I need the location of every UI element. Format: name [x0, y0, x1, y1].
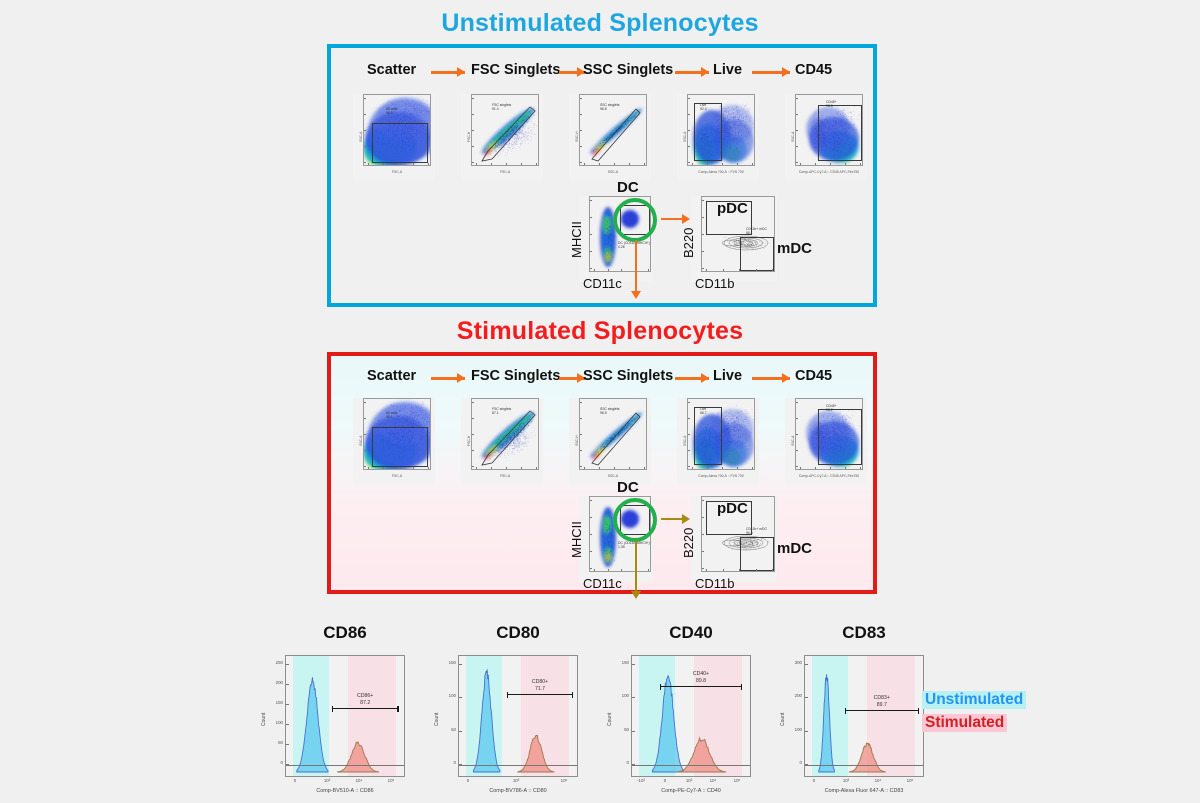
axis-tick: [364, 114, 366, 115]
axis-tick: [702, 517, 704, 518]
axis-tick: [398, 467, 399, 469]
x-axis-label: Comp-Alexa 700-A :: FVS 700: [687, 474, 755, 478]
axis-tick: [648, 269, 649, 271]
arrow-ssc-to-live: [675, 373, 709, 383]
arrow-fsc-to-ssc: [559, 373, 585, 383]
curve-unstimulated: [473, 669, 499, 772]
gate-percent: 98.5: [826, 104, 837, 108]
gate-stat: CD80+71.7: [507, 679, 573, 693]
axis-tick: [608, 569, 609, 571]
axis-tick: [580, 162, 582, 163]
arrow-shaft: [635, 240, 637, 292]
arrow-head: [631, 291, 641, 299]
dc-gate-label: DC: [617, 479, 639, 496]
axis-tick: [614, 467, 615, 469]
gate-region[interactable]: [694, 103, 722, 161]
y-tick-mark: [459, 697, 462, 698]
x-tick-label: 10³: [319, 778, 335, 783]
arrow-live-to-cd45: [752, 67, 790, 77]
y-axis-label: SSC-A: [791, 132, 795, 142]
axis-tick: [521, 467, 522, 469]
axis-tick: [702, 268, 704, 269]
axis-tick: [368, 163, 369, 165]
arrow-head: [682, 214, 690, 224]
step-live: Live: [713, 368, 742, 384]
axis-tick: [796, 114, 798, 115]
axis-tick: [739, 269, 740, 271]
axis-tick: [756, 569, 757, 571]
plot-frame: CD45+98.2: [795, 398, 863, 470]
arrow-live-to-cd45: [752, 373, 790, 383]
y-tick-label: 300: [788, 660, 802, 665]
y-tick-mark: [286, 684, 289, 685]
axis-tick: [737, 163, 738, 165]
plot-frame: Live66.7: [687, 398, 755, 470]
step-ssc-singlets: SSC Singlets: [583, 368, 673, 384]
gate-region[interactable]: [694, 407, 722, 465]
axis-tick: [584, 163, 585, 165]
histogram-curves: [286, 656, 405, 777]
axis-tick: [580, 418, 582, 419]
axis-tick: [476, 467, 477, 469]
axis-tick: [796, 146, 798, 147]
y-axis-label: Count: [607, 713, 613, 726]
axis-tick: [472, 402, 474, 403]
gate-stat-label: CD45+98.5: [826, 100, 837, 109]
histogram-frame-cd80: CD80+71.7: [458, 655, 578, 777]
arrow-shaft: [661, 518, 683, 520]
x-tick-label: 10⁴: [705, 778, 721, 783]
gate-percent: 91.4: [492, 107, 511, 111]
axis-tick: [860, 163, 861, 165]
gate-percent: 87.1: [492, 411, 511, 415]
axis-tick: [702, 200, 704, 201]
y-tick-label: 200: [788, 693, 802, 698]
axis-name-cd11c: CD11c: [583, 276, 622, 291]
y-axis-label: FSC-H: [467, 436, 471, 446]
axis-tick: [796, 162, 798, 163]
step-cd45: CD45: [795, 368, 832, 384]
gate-percent: 89.7: [845, 702, 919, 709]
plot-frame: All cells96.5: [363, 94, 431, 166]
axis-tick: [772, 569, 773, 571]
axis-tick: [580, 114, 582, 115]
gating-steps-stimulated: Scatter FSC Singlets SSC Singlets Live C…: [331, 368, 873, 392]
pdc-label: pDC: [717, 200, 748, 217]
y-tick-label: 200: [269, 680, 283, 685]
y-tick-mark: [286, 744, 289, 745]
y-tick-label: 50: [269, 740, 283, 745]
x-tick-label: 0: [657, 778, 673, 783]
y-axis-label: FSC-H: [467, 132, 471, 142]
gate-region[interactable]: [372, 123, 428, 163]
flow-plot-cd45: CD45+98.2Comp-APC-Cy7-A :: CD45 APC-Fire…: [785, 398, 867, 484]
flow-plot-live: Live92.4Comp-Alexa 700-A :: FVS 700SSC-A: [677, 94, 759, 180]
mdc-gate-region[interactable]: [740, 237, 774, 271]
plot-frame: SSC singlets98.8: [579, 94, 647, 166]
legend-stimulated: Stimulated: [922, 714, 1007, 732]
curve-stimulated: [849, 743, 885, 772]
axis-tick: [688, 402, 690, 403]
axis-tick: [706, 269, 707, 271]
plot-frame: Live92.4: [687, 94, 755, 166]
x-tick-label: 10³: [681, 778, 697, 783]
section-title-stimulated: Stimulated Splenocytes: [0, 317, 1200, 346]
gate-percent: 90.3: [746, 531, 767, 535]
gate-stat-label: FSC singlets87.1: [492, 407, 511, 416]
axis-tick: [599, 163, 600, 165]
axis-tick: [506, 467, 507, 469]
axis-tick: [815, 467, 816, 469]
x-axis-label: SSC-A: [579, 170, 647, 174]
flow-plot-scatter: All cells95.1FSC-ASSC-A: [353, 398, 435, 484]
x-axis-label: Comp-APC-Cy7-A :: CD45 APC-Fire750: [795, 170, 863, 174]
arrow-ssc-to-live: [675, 67, 709, 77]
axis-tick: [756, 269, 757, 271]
histogram-frame-cd40: CD40+89.8: [631, 655, 751, 777]
plot-frame: FSC singlets91.4: [471, 94, 539, 166]
gate-percent: 87.2: [332, 700, 399, 707]
axis-tick: [590, 234, 592, 235]
x-axis-label: Comp-BV510-A :: CD86: [285, 788, 405, 794]
y-tick-mark: [286, 724, 289, 725]
x-axis-label: FSC-A: [471, 170, 539, 174]
y-tick-mark: [632, 664, 635, 665]
axis-tick: [688, 450, 690, 451]
gating-panel-stimulated: Scatter FSC Singlets SSC Singlets Live C…: [327, 352, 877, 594]
axis-tick: [413, 163, 414, 165]
gate-stat-label: SSC singlets98.5: [600, 407, 619, 416]
axis-tick: [702, 251, 704, 252]
y-axis-label: Count: [261, 713, 267, 726]
x-axis-label: FSC-A: [363, 474, 431, 478]
mdc-gate-region[interactable]: [740, 537, 774, 571]
y-tick-label: 0: [615, 760, 629, 765]
axis-tick: [398, 163, 399, 165]
flow-plot-fsc-singlets: FSC singlets91.4FSC-AFSC-H: [461, 94, 543, 180]
gate-stat-label: Live66.7: [700, 407, 707, 416]
axis-tick: [580, 146, 582, 147]
y-axis-label: SSC-A: [683, 132, 687, 142]
axis-tick: [692, 467, 693, 469]
axis-tick: [737, 467, 738, 469]
step-fsc-singlets: FSC Singlets: [471, 368, 560, 384]
plot-frame: SSC singlets98.5: [579, 398, 647, 470]
histogram-frame-cd83: CD83+89.7: [804, 655, 924, 777]
x-tick-label: -10³: [633, 778, 649, 783]
axis-name-cd11c: CD11c: [583, 576, 622, 591]
gate-name: CD40+: [660, 671, 743, 678]
dc-gate-label: DC: [617, 179, 639, 196]
flow-plot-scatter: All cells96.5FSC-ASSC-A: [353, 94, 435, 180]
gate-bar[interactable]: [660, 686, 743, 687]
axis-tick: [644, 467, 645, 469]
x-tick-label: 10⁴: [351, 778, 367, 783]
axis-tick: [644, 163, 645, 165]
axis-tick: [590, 568, 592, 569]
step-scatter: Scatter: [367, 62, 416, 78]
axis-tick: [364, 162, 366, 163]
axis-tick: [621, 269, 622, 271]
baseline: [459, 765, 578, 766]
arrow-scatter-to-fsc: [431, 373, 465, 383]
gate-stat: CD83+89.7: [845, 695, 919, 709]
gate-region[interactable]: [818, 409, 862, 465]
axis-tick: [472, 418, 474, 419]
axis-tick: [590, 551, 592, 552]
y-tick-mark: [459, 731, 462, 732]
axis-tick: [796, 418, 798, 419]
arrow-dc-down: [631, 240, 641, 302]
histogram-curves: [805, 656, 924, 777]
x-tick-label: 0: [460, 778, 476, 783]
axis-tick: [383, 467, 384, 469]
gate-stat: CD40+89.8: [660, 671, 743, 685]
section-title-unstimulated: Unstimulated Splenocytes: [0, 9, 1200, 38]
gate-percent: 66.7: [700, 411, 707, 415]
y-tick-mark: [286, 704, 289, 705]
axis-name-b220: B220: [681, 528, 696, 558]
x-tick-label: 10⁵: [556, 778, 572, 783]
axis-tick: [702, 500, 704, 501]
axis-tick: [580, 402, 582, 403]
y-tick-label: 0: [788, 760, 802, 765]
y-tick-label: 0: [269, 760, 283, 765]
axis-tick: [772, 269, 773, 271]
flow-plot-live: Live66.7Comp-Alexa 700-A :: FVS 700SSC-A: [677, 398, 759, 484]
arrow-shaft: [635, 540, 637, 592]
baseline: [632, 765, 751, 766]
axis-tick: [590, 517, 592, 518]
axis-tick: [472, 130, 474, 131]
axis-tick: [722, 163, 723, 165]
flow-plot-cd45: CD45+98.5Comp-APC-Cy7-A :: CD45 APC-Fire…: [785, 94, 867, 180]
curve-unstimulated: [819, 674, 835, 772]
axis-tick: [364, 418, 366, 419]
axis-tick: [845, 467, 846, 469]
gate-bar[interactable]: [507, 694, 573, 695]
x-tick-label: 10⁵: [383, 778, 399, 783]
step-live: Live: [713, 62, 742, 78]
plot-frame: CD45+98.5: [795, 94, 863, 166]
axis-tick: [428, 467, 429, 469]
axis-name-mhcii: MHCII: [569, 221, 584, 258]
axis-tick: [491, 467, 492, 469]
axis-tick: [845, 163, 846, 165]
arrow-head: [682, 514, 690, 524]
gate-percent: 71.7: [507, 686, 573, 693]
axis-tick: [688, 98, 690, 99]
axis-name-cd11b: CD11b: [695, 276, 735, 291]
axis-tick: [860, 467, 861, 469]
axis-tick: [723, 269, 724, 271]
histogram-title-cd86: CD86: [275, 623, 415, 643]
axis-tick: [752, 163, 753, 165]
axis-tick: [364, 98, 366, 99]
axis-tick: [722, 467, 723, 469]
y-tick-label: 100: [788, 727, 802, 732]
plot-frame: FSC singlets87.1: [471, 398, 539, 470]
axis-tick: [648, 569, 649, 571]
curve-unstimulated: [652, 676, 683, 772]
gate-stat-label: CD45+98.2: [826, 404, 837, 413]
axis-tick: [364, 466, 366, 467]
gate-stat-label: Live92.4: [700, 103, 707, 112]
x-tick-label: 0: [287, 778, 303, 783]
mdc-label: mDC: [777, 240, 812, 257]
gate-bar[interactable]: [332, 708, 399, 709]
y-tick-label: 100: [442, 693, 456, 698]
y-tick-label: 0: [442, 760, 456, 765]
axis-tick: [796, 466, 798, 467]
step-cd45: CD45: [795, 62, 832, 78]
baseline: [286, 765, 405, 766]
plot-frame: All cells95.1: [363, 398, 431, 470]
histogram-title-cd40: CD40: [621, 623, 761, 643]
figure-canvas: Unstimulated Splenocytes Scatter FSC Sin…: [0, 0, 1200, 803]
gate-region[interactable]: [372, 427, 428, 467]
axis-tick: [413, 467, 414, 469]
arrow-head: [631, 591, 641, 599]
histogram-title-cd83: CD83: [794, 623, 934, 643]
axis-tick: [702, 234, 704, 235]
axis-tick: [739, 569, 740, 571]
y-tick-label: 50: [442, 727, 456, 732]
x-axis-label: SSC-A: [579, 474, 647, 478]
gate-percent: 98.8: [600, 107, 619, 111]
axis-tick: [472, 466, 474, 467]
y-tick-mark: [632, 697, 635, 698]
axis-tick: [590, 534, 592, 535]
axis-tick: [364, 130, 366, 131]
x-tick-label: 10⁴: [870, 778, 886, 783]
step-scatter: Scatter: [367, 368, 416, 384]
arrow-dc-down: [631, 540, 641, 602]
axis-tick: [702, 217, 704, 218]
x-axis-label: FSC-A: [363, 170, 431, 174]
y-axis-label: SSC-A: [359, 132, 363, 142]
axis-tick: [472, 162, 474, 163]
axis-tick: [688, 434, 690, 435]
axis-tick: [472, 434, 474, 435]
axis-tick: [599, 467, 600, 469]
x-axis-label: FSC-A: [471, 474, 539, 478]
axis-tick: [723, 569, 724, 571]
axis-tick: [608, 269, 609, 271]
y-axis-label: Count: [780, 713, 786, 726]
axis-tick: [594, 569, 595, 571]
axis-tick: [692, 163, 693, 165]
y-axis-label: SSC-A: [359, 436, 363, 446]
x-tick-label: 10⁵: [729, 778, 745, 783]
axis-tick: [621, 569, 622, 571]
histogram-title-cd80: CD80: [448, 623, 588, 643]
y-tick-mark: [459, 664, 462, 665]
axis-tick: [590, 268, 592, 269]
axis-tick: [707, 163, 708, 165]
gate-stat-label: FSC singlets91.4: [492, 103, 511, 112]
x-tick-label: 0: [806, 778, 822, 783]
y-tick-mark: [286, 664, 289, 665]
y-tick-mark: [805, 731, 808, 732]
dc-highlight-circle: [613, 498, 657, 542]
axis-tick: [707, 467, 708, 469]
y-axis-label: SSC-H: [575, 131, 579, 142]
x-axis-label: Comp-PE-Cy7-A :: CD40: [631, 788, 751, 794]
step-ssc-singlets: SSC Singlets: [583, 62, 673, 78]
step-fsc-singlets: FSC Singlets: [471, 62, 560, 78]
axis-tick: [491, 163, 492, 165]
y-tick-label: 150: [269, 700, 283, 705]
gate-percent: 98.5: [600, 411, 619, 415]
y-tick-label: 100: [269, 720, 283, 725]
axis-tick: [688, 114, 690, 115]
axis-tick: [796, 402, 798, 403]
y-tick-label: 50: [615, 727, 629, 732]
axis-tick: [796, 130, 798, 131]
axis-tick: [521, 163, 522, 165]
axis-tick: [830, 467, 831, 469]
axis-tick: [629, 163, 630, 165]
axis-tick: [536, 163, 537, 165]
axis-tick: [383, 163, 384, 165]
axis-tick: [702, 534, 704, 535]
axis-tick: [364, 402, 366, 403]
axis-tick: [476, 163, 477, 165]
legend-unstimulated: Unstimulated: [922, 691, 1026, 709]
arrow-fsc-to-ssc: [559, 67, 585, 77]
axis-tick: [796, 98, 798, 99]
axis-tick: [364, 450, 366, 451]
gate-bar[interactable]: [845, 710, 919, 711]
x-axis-label: Comp-Alexa 700-A :: FVS 700: [687, 170, 755, 174]
axis-tick: [752, 467, 753, 469]
gate-percent: 89.8: [660, 678, 743, 685]
axis-tick: [614, 163, 615, 165]
gate-region[interactable]: [818, 105, 862, 161]
gate-percent: 98.2: [826, 408, 837, 412]
axis-tick: [800, 163, 801, 165]
gate-percent: 95.1: [386, 415, 398, 419]
axis-tick: [629, 467, 630, 469]
gating-panel-unstimulated: Scatter FSC Singlets SSC Singlets Live C…: [327, 44, 877, 307]
x-tick-label: 10⁵: [902, 778, 918, 783]
axis-tick: [815, 163, 816, 165]
baseline: [805, 765, 924, 766]
axis-tick: [702, 568, 704, 569]
gate-percent: 92.4: [700, 107, 707, 111]
x-axis-label: Comp-APC-Cy7-A :: CD45 APC-Fire750: [795, 474, 863, 478]
axis-tick: [830, 163, 831, 165]
gate-stat-label: CD11b+ mDC88.1: [746, 227, 767, 236]
x-tick-label: 10³: [508, 778, 524, 783]
gate-stat: CD86+87.2: [332, 693, 399, 707]
axis-tick: [368, 467, 369, 469]
axis-tick: [580, 98, 582, 99]
gate-name: CD80+: [507, 679, 573, 686]
axis-tick: [590, 217, 592, 218]
axis-tick: [472, 98, 474, 99]
axis-tick: [590, 200, 592, 201]
axis-tick: [364, 434, 366, 435]
x-axis-label: Comp-BV786-A :: CD80: [458, 788, 578, 794]
axis-name-mhcii: MHCII: [569, 521, 584, 558]
axis-tick: [364, 146, 366, 147]
axis-name-b220: B220: [681, 228, 696, 258]
x-tick-label: 10³: [838, 778, 854, 783]
axis-tick: [472, 114, 474, 115]
curve-stimulated: [678, 738, 726, 772]
